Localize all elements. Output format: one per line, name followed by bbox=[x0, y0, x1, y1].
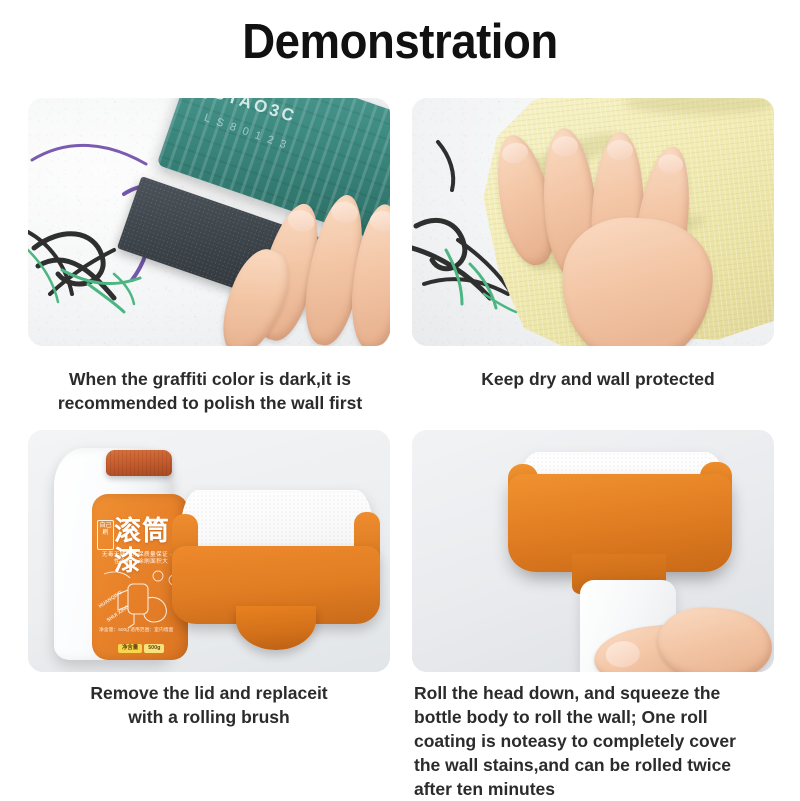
label-footer: 净含量：500g 适用范围：室内墙面 bbox=[99, 628, 181, 634]
caption-line: Roll the head down, and squeeze the bbox=[414, 681, 786, 705]
fingernail bbox=[369, 210, 390, 233]
caption-line: after ten minutes bbox=[414, 777, 786, 801]
demonstration-page: Demonstration QBTAO3C L S 8 bbox=[0, 0, 800, 800]
fingernail bbox=[604, 640, 641, 669]
caption-line: Keep dry and wall protected bbox=[481, 369, 714, 389]
step-3-caption: Remove the lid and replaceit with a roll… bbox=[18, 681, 400, 729]
step-2-image bbox=[412, 98, 774, 346]
hand-rolling-bottle-on-wall-scene bbox=[412, 430, 774, 672]
caption-line: coating is noteasy to completely cover bbox=[414, 729, 786, 753]
step-2-caption: Keep dry and wall protected bbox=[412, 367, 784, 391]
weight-tag-label: 净含量 bbox=[118, 644, 142, 653]
fingernail bbox=[330, 200, 360, 225]
paint-bottle-and-roller-head-scene: 自己刷 滚筒漆 无毒无味 · 环保质量保证 · 水性涂料 · 涂刷面积大 bbox=[28, 430, 390, 672]
paint-bottle: 自己刷 滚筒漆 无毒无味 · 环保质量保证 · 水性涂料 · 涂刷面积大 bbox=[54, 448, 172, 660]
fingernail bbox=[607, 140, 634, 161]
caption-line: with a rolling brush bbox=[128, 707, 289, 727]
svg-text:HUANQING: HUANQING bbox=[98, 589, 124, 609]
fingernail bbox=[286, 207, 317, 234]
bottle-cap bbox=[106, 450, 172, 476]
step-1-caption: When the graffiti color is dark,it is re… bbox=[20, 367, 400, 415]
caption-line: the wall stains,and can be rolled twice bbox=[414, 753, 786, 777]
sanding-block-on-graffiti-wall-scene: QBTAO3C L S 8 0 1 2 3 bbox=[28, 98, 390, 346]
caption-line: recommended to polish the wall first bbox=[58, 393, 362, 413]
step-1-image: QBTAO3C L S 8 0 1 2 3 bbox=[28, 98, 390, 346]
caption-line: Remove the lid and replaceit bbox=[90, 683, 327, 703]
fingernail bbox=[657, 153, 684, 175]
hand-wiping-wall-with-cloth-scene bbox=[412, 98, 774, 346]
caption-line: bottle body to roll the wall; One roll bbox=[414, 705, 786, 729]
step-3-image: 自己刷 滚筒漆 无毒无味 · 环保质量保证 · 水性涂料 · 涂刷面积大 bbox=[28, 430, 390, 672]
page-title: Demonstration bbox=[28, 14, 772, 70]
caption-line: When the graffiti color is dark,it is bbox=[69, 369, 351, 389]
label-badge: 自己刷 bbox=[97, 520, 114, 550]
step-4-caption: Roll the head down, and squeeze the bott… bbox=[414, 681, 786, 801]
weight-tag-value: 500g bbox=[144, 644, 164, 653]
fingernail bbox=[551, 135, 579, 157]
label-weight-tag: 净含量 500g bbox=[118, 644, 164, 653]
step-4-image bbox=[412, 430, 774, 672]
fingernail bbox=[500, 141, 530, 166]
